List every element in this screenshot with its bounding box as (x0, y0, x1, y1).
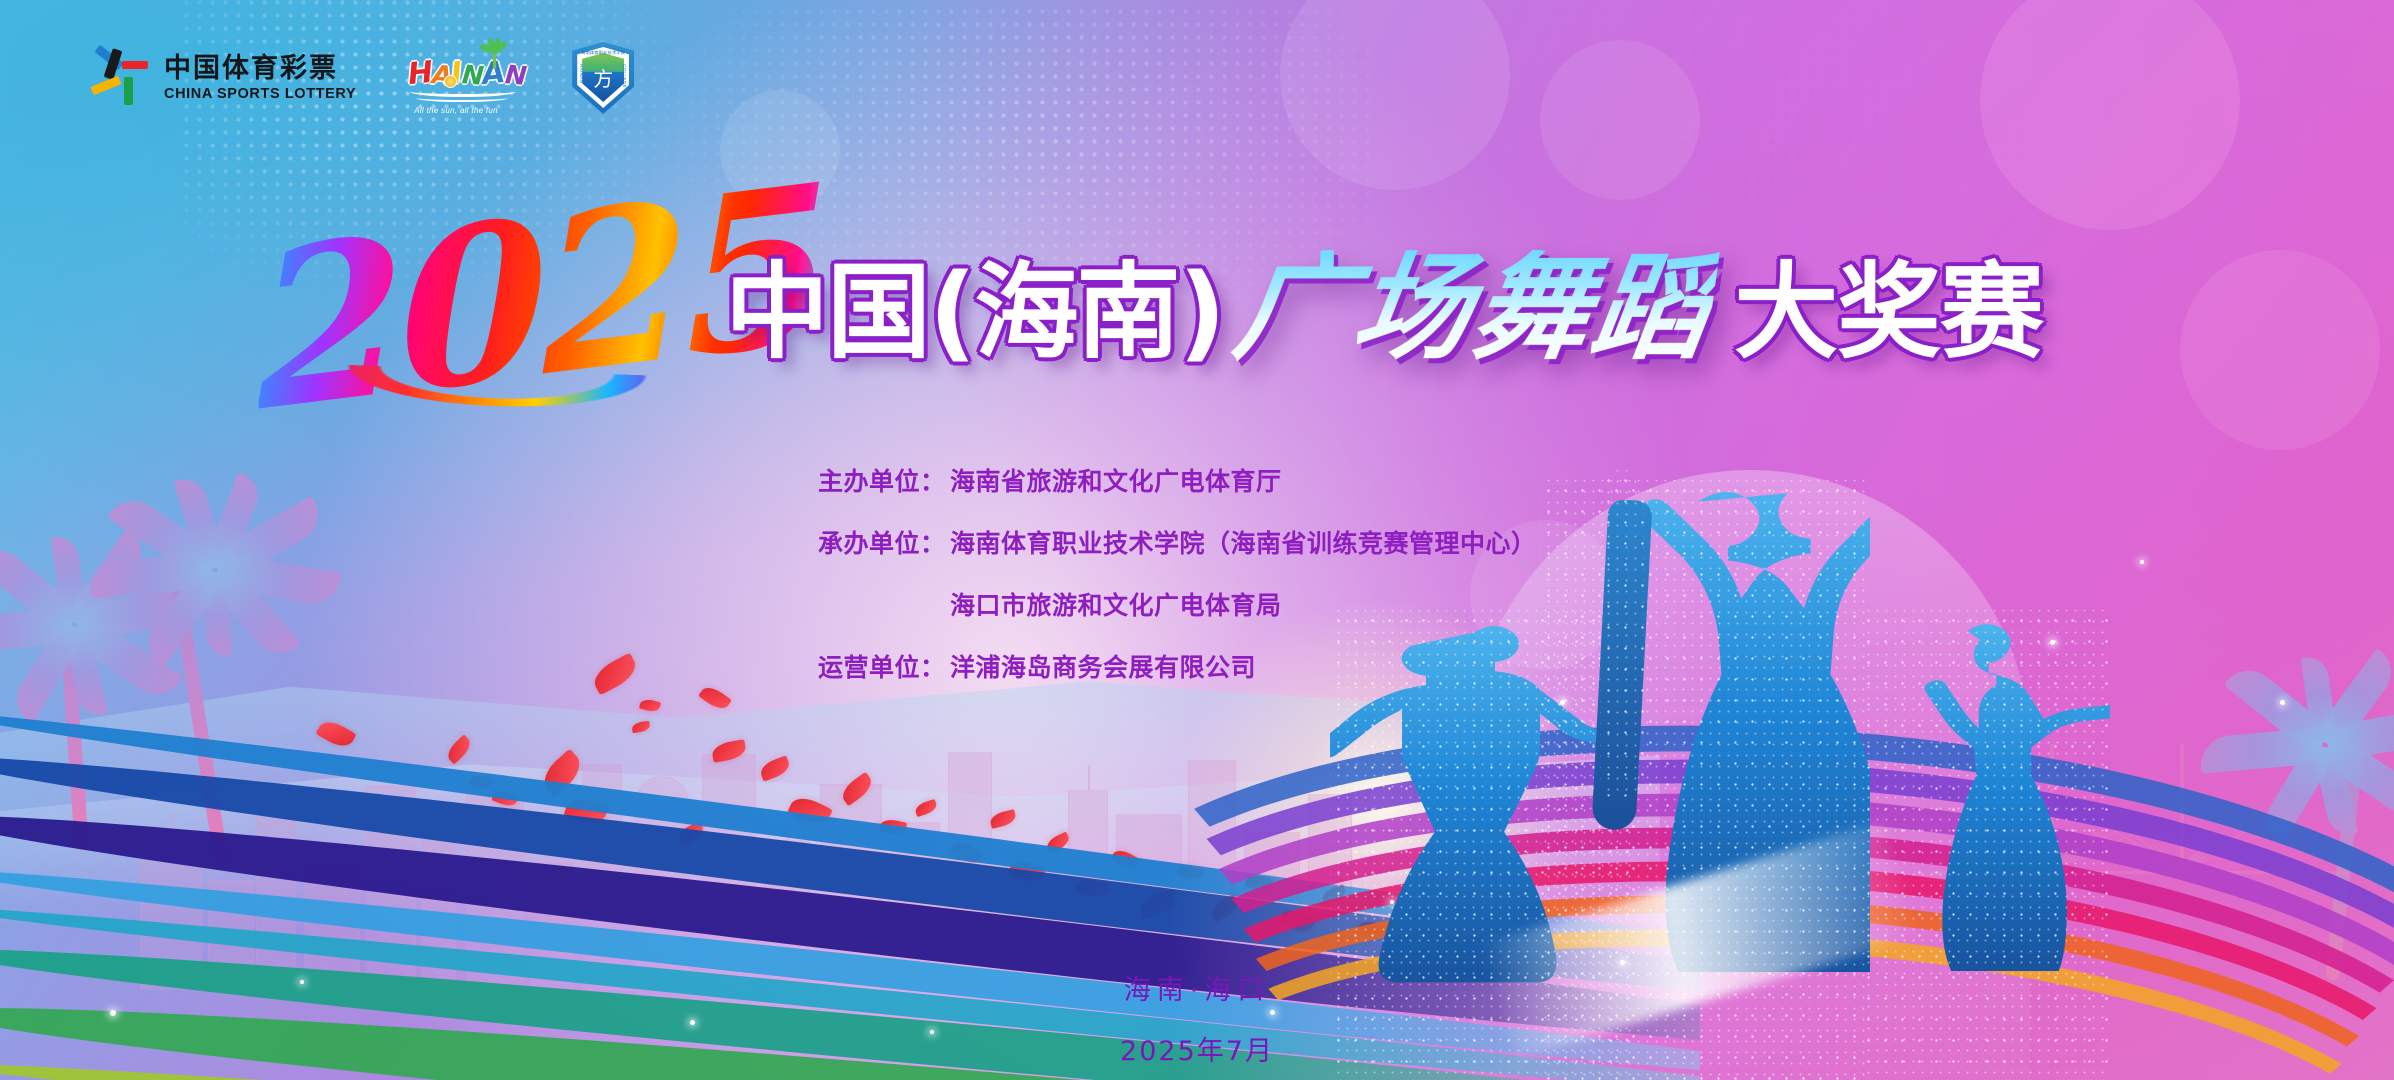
palm-frond (63, 528, 152, 634)
petal (537, 749, 587, 798)
sparkle (2280, 700, 2285, 705)
wave-icon (416, 94, 508, 102)
college-top-text: 海南体育职业技术学院 (572, 50, 634, 56)
palm-frond (2312, 742, 2358, 839)
event-footer: 海南·海口 2025年7月 (0, 968, 2394, 1068)
skyline-building (1244, 832, 1300, 990)
petal (989, 809, 1018, 829)
petal (1208, 894, 1242, 923)
palm-frond (2224, 659, 2336, 758)
palm-frond (2313, 648, 2394, 754)
palm-frond (107, 490, 224, 584)
year-brush-swirl (328, 364, 662, 495)
petal (950, 839, 984, 868)
petal (787, 792, 833, 829)
palm-frond (51, 535, 88, 627)
petal (1110, 847, 1140, 872)
petal (639, 698, 661, 714)
palm-tree-icon (100, 545, 330, 865)
skyline-building (582, 764, 622, 990)
palm-trunk (165, 548, 229, 866)
skyline-building (1116, 814, 1182, 990)
organizer-value: 海口市旅游和文化广电体育局 (950, 586, 1282, 622)
title-part-country: 中国(海南) (725, 260, 1224, 364)
page-title: 中国(海南) 广场舞蹈 大奖赛 (725, 250, 2043, 366)
petal (838, 772, 876, 807)
petal (315, 716, 356, 751)
petal (1245, 873, 1274, 894)
sparkle (2140, 560, 2144, 564)
bokeh-circle (1980, 0, 2240, 230)
skyline-building (820, 784, 882, 990)
palm-frond (0, 607, 77, 653)
petal (1074, 876, 1109, 900)
event-date: 2025年7月 (0, 1029, 2394, 1068)
petal (589, 653, 641, 696)
palm-trunk (58, 600, 89, 850)
skyline-building (466, 794, 524, 990)
palm-frond (202, 472, 265, 575)
palm-frond (173, 474, 228, 574)
bokeh-circle (1540, 40, 1700, 200)
palm-frond (2301, 655, 2338, 747)
bridge-pylon (2180, 744, 2184, 874)
petal (1044, 831, 1071, 853)
bridge-cable (2180, 831, 2267, 871)
sports-lottery-cn: 中国体育彩票 (164, 54, 356, 82)
bridge-cable (2179, 855, 2192, 871)
hainan-tagline: All the sun, all the fun (414, 106, 498, 115)
hainan-sports-vocational-college-logo: 海南体育职业技术学院 HAINAN COLLEGE (572, 42, 634, 114)
palm-frond (62, 622, 108, 719)
palm-tree-icon (2230, 720, 2394, 980)
bridge-cable (2179, 843, 2207, 871)
skyline-building (1188, 760, 1236, 990)
palm-trunk (2325, 721, 2366, 981)
palm-frond (2198, 727, 2326, 773)
skyline-building (702, 754, 756, 990)
china-sports-lottery-logo: 中国体育彩票 CHINA SPORTS LOTTERY (88, 47, 356, 109)
palm-frond (203, 569, 232, 656)
bokeh-circle (1280, 0, 1510, 190)
skyline-building (948, 752, 992, 990)
organizer-label: 运营单位： (818, 648, 950, 684)
palm-frond (0, 539, 85, 638)
event-location: 海南·海口 (0, 968, 2394, 1007)
petal (758, 755, 792, 781)
petal (1008, 857, 1046, 886)
palm-frond (2322, 706, 2394, 763)
palm-frond (212, 552, 342, 608)
organizer-value: 洋浦海岛商务会展有限公司 (950, 648, 1256, 684)
petal (444, 734, 475, 764)
petal (698, 683, 732, 713)
event-poster: 中国体育彩票 CHINA SPORTS LOTTERY HAINAN All t… (0, 0, 2394, 1080)
palm-frond (88, 552, 216, 598)
petal (564, 794, 609, 827)
palm-frond (138, 561, 227, 667)
skyline-building (366, 785, 416, 990)
palm-frond (2257, 737, 2338, 843)
petal (914, 799, 939, 817)
palm-frond (66, 611, 184, 705)
palm-frond (7, 617, 88, 723)
organizer-label: 主办单位： (818, 462, 950, 498)
sports-lottery-en: CHINA SPORTS LOTTERY (164, 86, 356, 102)
city-skyline (130, 700, 1420, 990)
sponsor-logo-bar: 中国体育彩票 CHINA SPORTS LOTTERY HAINAN All t… (88, 42, 634, 114)
petal (676, 821, 705, 844)
palm-frond (207, 496, 329, 585)
hainan-tourism-logo: HAINAN All the sun, all the fun (408, 45, 520, 111)
petal (491, 788, 518, 809)
palm-tree-icon (482, 47, 508, 69)
college-right-text: COLLEGE (622, 64, 627, 88)
college-left-text: HAINAN (579, 64, 584, 83)
title-part-competition: 大奖赛 (1734, 260, 2043, 364)
organizer-value: 海南省旅游和文化广电体育厅 (950, 462, 1282, 498)
bokeh-circle (2180, 250, 2380, 450)
skyline-building (422, 830, 456, 990)
bridge-cable (2168, 855, 2181, 871)
sports-lottery-wordmark: 中国体育彩票 CHINA SPORTS LOTTERY (164, 54, 356, 101)
petal (631, 721, 650, 733)
petal (469, 774, 493, 790)
sports-lottery-mark-icon (88, 47, 150, 109)
title-part-dance: 广场舞蹈 (1228, 250, 1720, 366)
palm-frond (72, 586, 202, 643)
petal (711, 739, 748, 763)
palm-frond (2316, 731, 2394, 825)
petal (1278, 906, 1316, 936)
petal (1138, 889, 1178, 918)
skyline-building (1068, 790, 1108, 990)
petal (1176, 862, 1203, 883)
skyline-building (890, 822, 940, 990)
organizer-label: 承办单位： (818, 524, 950, 560)
bridge-cable (2180, 830, 2246, 870)
bridge-cable (2180, 835, 2226, 871)
palm-tree-icon (0, 600, 160, 850)
palm-frond (203, 559, 301, 664)
petal (879, 817, 907, 836)
skyline-building (256, 808, 296, 990)
guanyin-statue-silhouette (635, 776, 689, 990)
bridge-cable (2153, 843, 2181, 871)
bridge-cable (2135, 835, 2181, 871)
